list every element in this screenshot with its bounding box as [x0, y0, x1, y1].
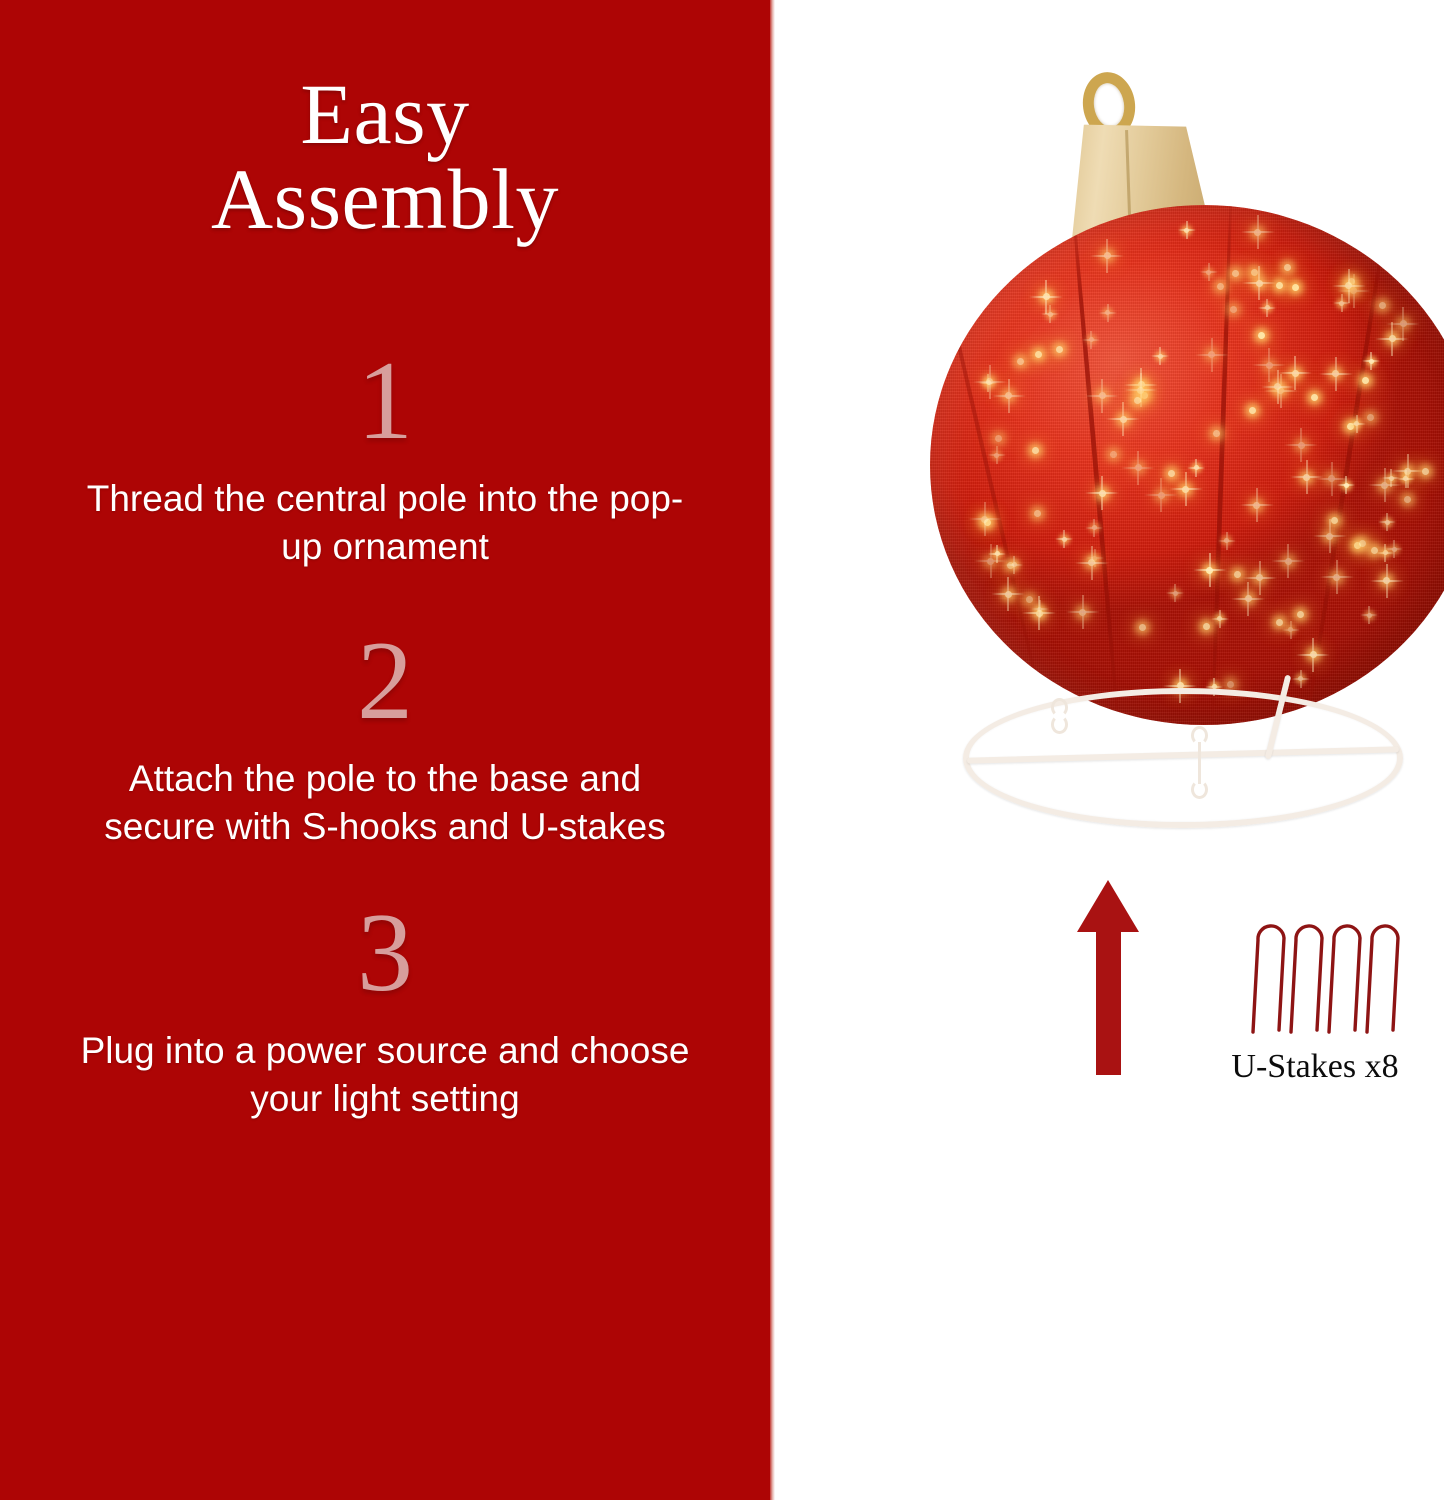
led-sparkle	[1251, 269, 1258, 276]
led-sparkle	[1134, 397, 1141, 404]
led-sparkle	[987, 558, 994, 565]
led-sparkle	[1422, 468, 1429, 475]
led-sparkle	[1256, 280, 1263, 287]
page-title-line-1: Easy	[300, 66, 469, 162]
led-sparkle	[1158, 492, 1165, 499]
led-sparkle	[1284, 264, 1291, 271]
assembled-ornament-image	[835, 60, 1435, 820]
led-sparkle	[1392, 547, 1397, 552]
led-sparkle	[1062, 537, 1067, 542]
led-sparkle	[1385, 520, 1390, 525]
led-sparkle	[1383, 550, 1388, 555]
wire-base-stand	[953, 660, 1444, 820]
led-sparkle	[1331, 517, 1338, 524]
led-sparkle	[1266, 362, 1273, 369]
led-sparkle	[1037, 607, 1042, 612]
assembly-direction-arrow-icon	[1077, 880, 1139, 1075]
led-sparkle	[1389, 335, 1396, 342]
led-sparkle	[1034, 510, 1041, 517]
led-sparkle	[1249, 407, 1256, 414]
led-sparkle	[1043, 293, 1050, 300]
led-sparkle	[1285, 558, 1292, 565]
step-text-2: Attach the pole to the base and secure w…	[0, 755, 770, 851]
led-sparkle	[1371, 547, 1378, 554]
step-number-3: 3	[0, 897, 770, 1009]
page-title: Easy Assembly	[0, 72, 770, 242]
led-sparkle	[1139, 624, 1146, 631]
led-sparkle	[1230, 306, 1237, 313]
led-sparkle	[1012, 562, 1017, 567]
led-sparkle	[995, 551, 1000, 556]
s-hook	[1191, 726, 1209, 804]
led-sparkle	[1120, 416, 1127, 423]
led-sparkle	[1158, 354, 1163, 359]
led-sparkle	[1400, 320, 1407, 327]
led-sparkle	[1292, 370, 1299, 377]
led-sparkle	[1369, 359, 1374, 364]
led-sparkle	[1333, 574, 1340, 581]
led-sparkle	[1213, 430, 1220, 437]
led-sparkle	[1099, 392, 1106, 399]
led-sparkle	[1005, 591, 1012, 598]
led-sparkle	[1017, 358, 1024, 365]
led-sparkle	[1099, 490, 1106, 497]
led-sparkle	[1362, 377, 1369, 384]
led-sparkle	[1298, 442, 1305, 449]
u-stakes-label: U-Stakes x8	[1190, 1048, 1440, 1085]
step-text-1: Thread the central pole into the pop-up …	[0, 475, 770, 571]
s-hook	[1051, 698, 1069, 738]
instructions-panel: Easy Assembly 1 Thread the central pole …	[0, 0, 770, 1500]
led-sparkle	[1217, 283, 1224, 290]
assembly-step-1: 1 Thread the central pole into the pop-u…	[0, 345, 770, 571]
led-sparkle	[1326, 533, 1333, 540]
assembly-step-3: 3 Plug into a power source and choose yo…	[0, 897, 770, 1123]
led-sparkle	[1137, 387, 1144, 394]
step-number-2: 2	[0, 625, 770, 737]
led-sparkle	[1206, 567, 1213, 574]
led-sparkle	[1184, 228, 1189, 233]
ball-fabric-texture	[930, 205, 1444, 725]
led-sparkle	[1203, 623, 1210, 630]
page-title-line-2: Assembly	[0, 157, 770, 242]
led-sparkle	[995, 435, 1002, 442]
led-sparkle	[1089, 337, 1094, 342]
led-sparkle	[1048, 312, 1053, 317]
arrow-shaft	[1096, 930, 1121, 1075]
led-sparkle	[1344, 483, 1349, 488]
led-sparkle	[1265, 305, 1270, 310]
led-sparkle	[1079, 609, 1086, 616]
step-number-1: 1	[0, 345, 770, 457]
led-sparkle	[1168, 470, 1175, 477]
assembly-step-2: 2 Attach the pole to the base and secure…	[0, 625, 770, 851]
led-sparkle	[1367, 414, 1374, 421]
infographic-page: Easy Assembly 1 Thread the central pole …	[0, 0, 1444, 1500]
product-images-area	[775, 0, 1444, 1500]
led-sparkle	[1173, 591, 1178, 596]
arrow-head	[1077, 880, 1139, 932]
step-text-3: Plug into a power source and choose your…	[0, 1027, 770, 1123]
led-sparkle	[1339, 301, 1344, 306]
led-sparkle	[1389, 476, 1394, 481]
lit-ornament-ball	[930, 205, 1444, 725]
led-sparkle	[1303, 474, 1310, 481]
led-sparkle	[1104, 252, 1111, 259]
assembly-steps-list: 1 Thread the central pole into the pop-u…	[0, 345, 770, 1124]
led-sparkle	[1367, 613, 1372, 618]
